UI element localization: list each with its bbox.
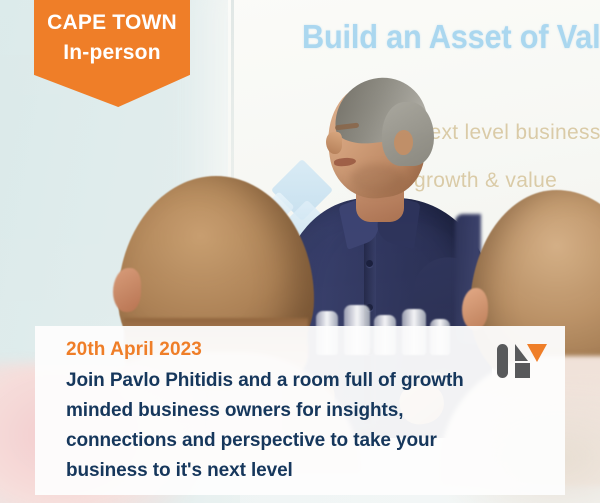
logo-orange-triangle-shape: [527, 344, 547, 362]
logo-lower-block-shape: [515, 363, 530, 378]
audience-ear-right: [462, 288, 488, 330]
event-date: 20th April 2023: [66, 339, 202, 361]
logo-upper-wedge-shape: [515, 344, 528, 361]
speaker-nose: [326, 132, 342, 154]
banner-city-label: CAPE TOWN: [34, 11, 190, 35]
speaker-shirt-button: [366, 260, 373, 267]
aurik-logo: [494, 336, 550, 388]
speaker-ear: [394, 130, 413, 155]
event-info-card: 20th April 2023 Join Pavlo Phitidis and …: [35, 326, 565, 495]
slide-headline: Build an Asset of Value: [302, 18, 600, 56]
banner-format-label: In-person: [34, 41, 190, 65]
event-description: Join Pavlo Phitidis and a room full of g…: [66, 366, 496, 486]
event-poster: Build an Asset of Value Next level busin…: [0, 0, 600, 503]
speaker-figure: [290, 78, 480, 348]
logo-bar-shape: [497, 344, 508, 378]
audience-ear-left: [113, 268, 141, 312]
speaker-jaw-shadow: [350, 164, 404, 194]
